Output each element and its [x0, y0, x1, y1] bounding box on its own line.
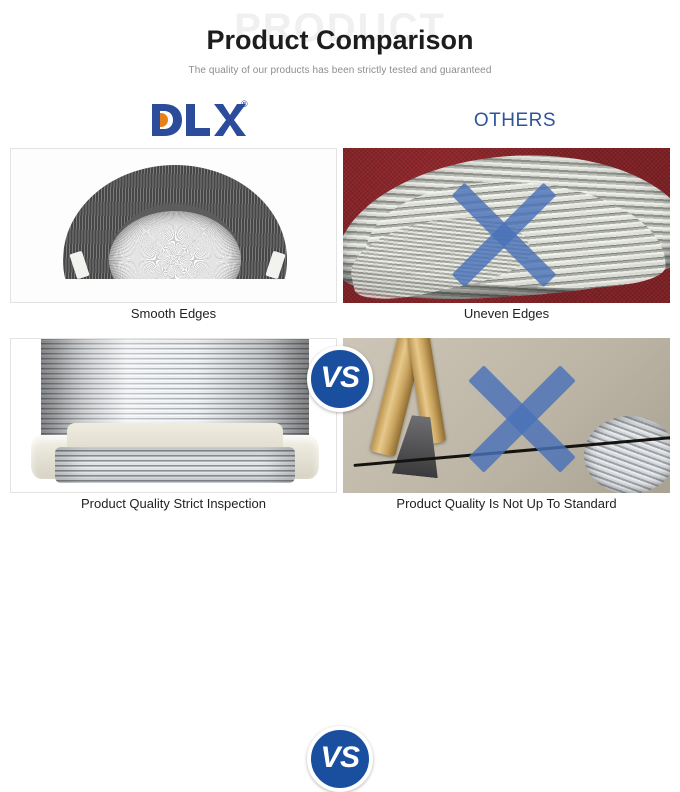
competitor-caption: Product Quality Is Not Up To Standard — [343, 496, 670, 511]
pliers-cutting-wire-image — [343, 338, 670, 493]
page-header: PRODUCT Product Comparison The quality o… — [0, 0, 680, 96]
dlr-logo-icon — [148, 98, 248, 138]
comparison-row: Smooth Edges Uneven Edges VS — [0, 148, 680, 338]
competitor-image-panel — [343, 338, 670, 493]
page-subtitle: The quality of our products has been str… — [0, 65, 680, 76]
comparison-grid: Smooth Edges Uneven Edges VS — [0, 148, 680, 528]
competitor-image-panel — [343, 148, 670, 303]
others-label: OTHERS — [430, 110, 600, 132]
product-caption: Product Quality Strict Inspection — [10, 496, 337, 511]
vs-badge: VS — [307, 726, 373, 792]
registered-trademark-icon: ® — [241, 99, 248, 109]
brand-row: ® OTHERS — [0, 96, 680, 148]
vs-badge: VS — [307, 346, 373, 412]
tangled-wire-image — [343, 148, 670, 303]
product-image-panel — [10, 338, 337, 493]
steel-wire-coil-image — [11, 149, 336, 302]
brand-logo: ® — [148, 98, 258, 140]
wire-spool-image — [11, 339, 336, 492]
vs-label: VS — [320, 363, 359, 393]
competitor-caption: Uneven Edges — [343, 306, 670, 321]
product-image-panel — [10, 148, 337, 303]
product-caption: Smooth Edges — [10, 306, 337, 321]
page-title: Product Comparison — [0, 24, 680, 56]
vs-label: VS — [320, 743, 359, 773]
